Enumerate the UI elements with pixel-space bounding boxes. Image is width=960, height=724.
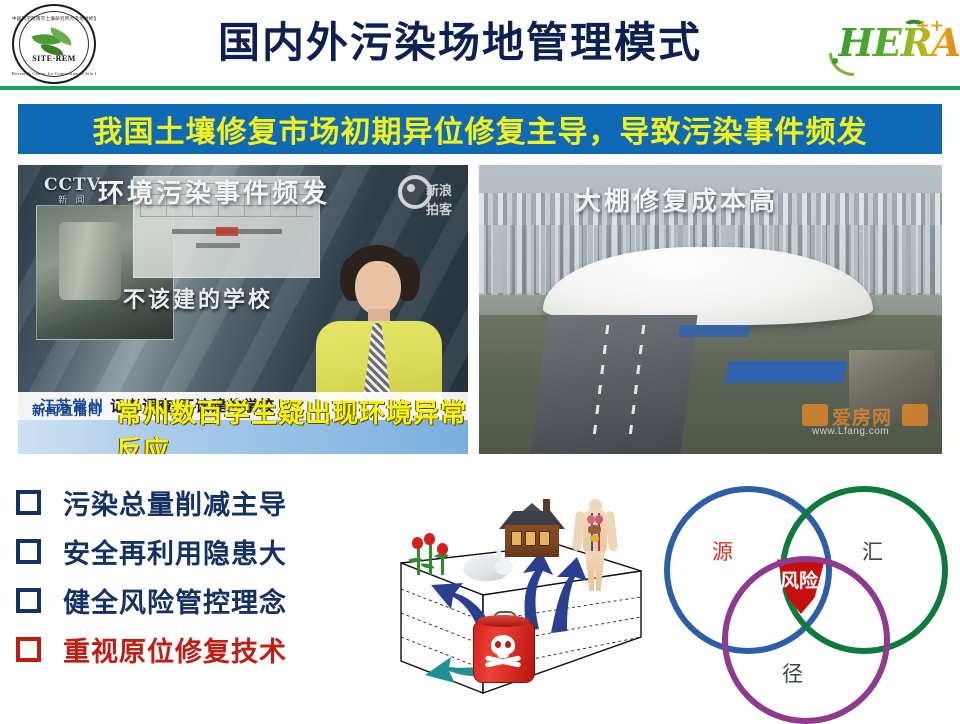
header-divider xyxy=(0,86,960,90)
bullet-label: 健全风险管控理念 xyxy=(63,581,287,620)
venn-label-source: 源 xyxy=(712,536,734,566)
lane-markings-2 xyxy=(628,325,646,445)
square-bullet-icon xyxy=(16,539,41,564)
watermark-box-left xyxy=(802,404,828,426)
lane-markings-1 xyxy=(592,325,610,445)
blue-roof-near xyxy=(725,361,848,383)
weibo-paike-badge: 新浪拍客 xyxy=(398,173,454,207)
hera-logo: HERA ++ xyxy=(826,6,948,80)
left-photo-overlay-caption: 环境污染事件频发 xyxy=(98,173,330,210)
seal-abbr-text: SITE-REM xyxy=(12,54,96,63)
flowers-icon xyxy=(407,533,455,575)
news-screenshot-photo: CCTV 新 闻 新浪拍客 不该建的学校 江苏常州 记者调查 不该建的学校 新闻… xyxy=(18,165,468,454)
page-title: 国内外污染场地管理模式 xyxy=(140,14,780,72)
seal-arc-top-text: 中国科学院南京土壤研究所污染场地修复研究中心 xyxy=(12,16,96,22)
hera-superscript: ++ xyxy=(916,16,945,36)
ticker-headline-2: 常州数百学生疑出现环境异常反应 xyxy=(116,393,468,454)
cctv-sub-label: 新 闻 xyxy=(58,193,88,206)
bullet-label: 重视原位修复技术 xyxy=(63,630,287,669)
venn-label-risk: 风险 xyxy=(780,566,818,593)
watermark-box-right xyxy=(902,404,928,426)
human-body-icon xyxy=(573,499,617,591)
site-rem-seal-logo: 中国科学院南京土壤研究所污染场地修复研究中心 SITE-REM Research… xyxy=(12,4,96,84)
doc-red-highlight xyxy=(216,227,238,236)
right-photo-overlay-caption: 大棚修复成本高 xyxy=(575,181,778,218)
venn-label-pathway: 径 xyxy=(782,658,804,688)
banner-text: 我国土壤修复市场初期异位修复主导，导致污染事件频发 xyxy=(93,107,868,151)
highway xyxy=(530,315,697,454)
seal-arc-bottom-text: Research Center for Contaminated Site Re… xyxy=(12,71,96,76)
bullet-list: 污染总量削减主导 安全再利用隐患大 健全风险管控理念 重视原位修复技术 xyxy=(16,478,346,674)
soil-exposure-diagram xyxy=(345,485,655,710)
blue-roof-far xyxy=(678,325,750,337)
watermark-url-text: www.Lfang.com xyxy=(812,426,889,437)
photo-mid-caption: 不该建的学校 xyxy=(123,282,273,314)
toxic-drum-icon xyxy=(473,613,533,683)
cctv-logo: CCTV xyxy=(44,175,101,195)
section-banner: 我国土壤修复市场初期异位修复主导，导致污染事件频发 xyxy=(18,104,942,154)
ticker-program-tag: 新闻直播间 xyxy=(32,400,102,419)
list-item: 污染总量削减主导 xyxy=(16,478,346,527)
list-item: 健全风险管控理念 xyxy=(16,576,346,625)
square-bullet-icon xyxy=(16,637,41,662)
bullet-label: 安全再利用隐患大 xyxy=(63,532,287,571)
square-bullet-icon xyxy=(16,588,41,613)
list-item: 重视原位修复技术 xyxy=(16,625,346,674)
bullet-label: 污染总量削减主导 xyxy=(63,483,287,522)
lfang-watermark: 爱房网 www.Lfang.com xyxy=(802,404,932,446)
doc-line-2 xyxy=(196,243,240,248)
news-ticker: 江苏常州 记者调查 不该建的学校 新闻直播间 常州数百学生疑出现环境异常反应 xyxy=(18,392,468,454)
list-item: 安全再利用隐患大 xyxy=(16,527,346,576)
risk-venn-diagram: 源 汇 径 风险 xyxy=(662,478,952,718)
greenhouse-dome-photo: 大棚修复成本高 爱房网 www.Lfang.com xyxy=(479,165,942,454)
weibo-badge-text: 新浪拍客 xyxy=(426,180,454,218)
venn-label-sink: 汇 xyxy=(862,536,884,566)
square-bullet-icon xyxy=(16,490,41,515)
inset-container-object xyxy=(59,222,121,300)
slide-root: 中国科学院南京土壤研究所污染场地修复研究中心 SITE-REM Research… xyxy=(0,0,960,720)
house-icon xyxy=(497,497,567,557)
slide-header: 中国科学院南京土壤研究所污染场地修复研究中心 SITE-REM Research… xyxy=(0,0,960,88)
